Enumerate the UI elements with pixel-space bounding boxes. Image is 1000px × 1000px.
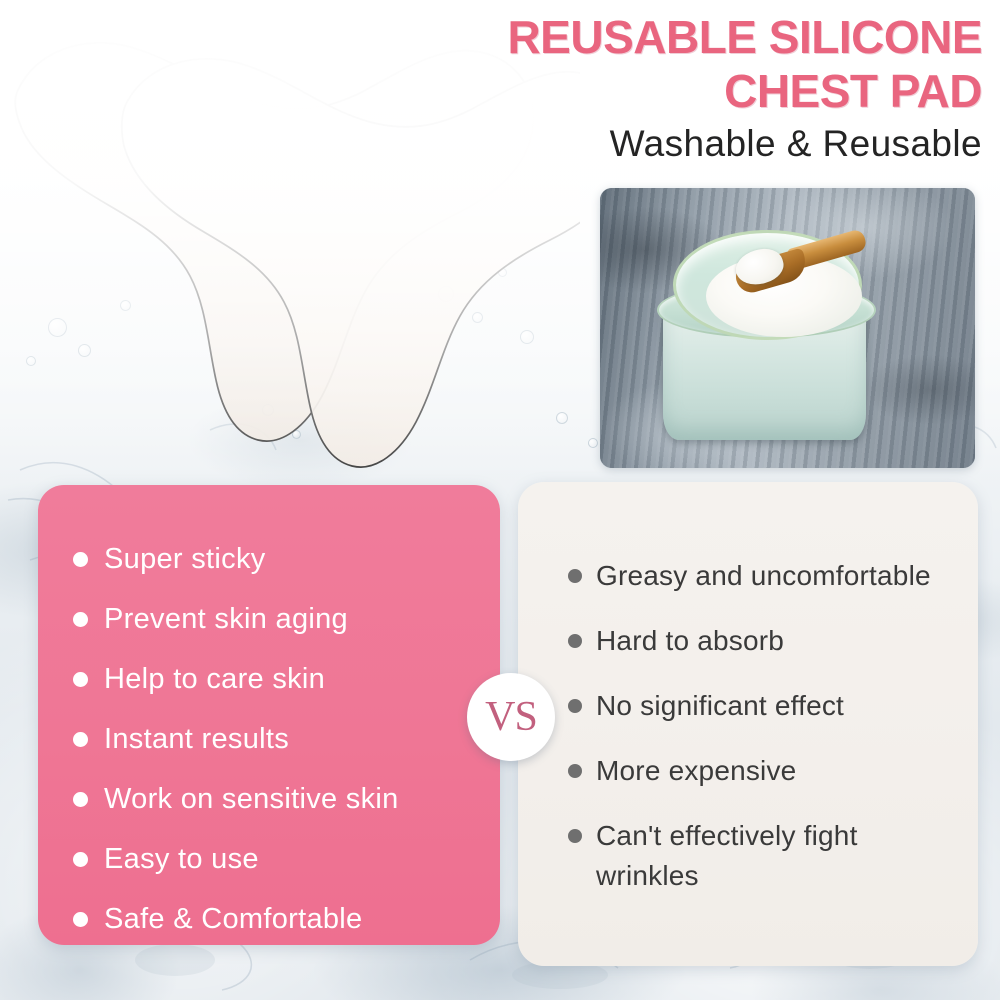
pros-item-label: Super sticky [104, 543, 266, 576]
bullet-icon [568, 764, 582, 778]
bullet-icon [568, 634, 582, 648]
list-item: Safe & Comfortable [73, 889, 535, 949]
cons-panel: Greasy and uncomfortable Hard to absorb … [518, 482, 978, 966]
product-infographic: REUSABLE SILICONE CHEST PAD Washable & R… [0, 0, 1000, 1000]
pros-item-label: Prevent skin aging [104, 603, 348, 636]
headline-line-2: CHEST PAD [442, 64, 982, 118]
list-item: Help to care skin [73, 649, 535, 709]
bullet-icon [73, 552, 88, 567]
cons-list: Greasy and uncomfortable Hard to absorb … [518, 482, 1000, 921]
headline-subtitle: Washable & Reusable [442, 122, 982, 166]
list-item: Can't effectively fight wrinkles [568, 816, 1000, 896]
pros-item-label: Instant results [104, 723, 289, 756]
cons-item-label: No significant effect [596, 686, 844, 726]
list-item: Easy to use [73, 829, 535, 889]
bullet-icon [73, 612, 88, 627]
list-item: Work on sensitive skin [73, 769, 535, 829]
vs-label: VS [485, 693, 537, 741]
bullet-icon [568, 699, 582, 713]
cons-item-label: More expensive [596, 751, 796, 791]
headline-block: REUSABLE SILICONE CHEST PAD Washable & R… [442, 10, 982, 166]
list-item: No significant effect [568, 686, 1000, 726]
cream-jar-photo [600, 188, 975, 468]
glass-jar [657, 222, 872, 440]
bullet-icon [73, 732, 88, 747]
pros-item-label: Easy to use [104, 843, 259, 876]
cons-item-label: Greasy and uncomfortable [596, 556, 931, 596]
list-item: Instant results [73, 709, 535, 769]
bullet-icon [568, 829, 582, 843]
bullet-icon [73, 792, 88, 807]
vs-badge: VS [467, 673, 555, 761]
cons-item-label: Can't effectively fight wrinkles [596, 816, 896, 896]
cons-item-label: Hard to absorb [596, 621, 784, 661]
list-item: More expensive [568, 751, 1000, 791]
pros-panel: Super sticky Prevent skin aging Help to … [38, 485, 500, 945]
list-item: Greasy and uncomfortable [568, 556, 1000, 596]
pros-item-label: Work on sensitive skin [104, 783, 399, 816]
pros-list: Super sticky Prevent skin aging Help to … [38, 485, 535, 949]
bullet-icon [73, 672, 88, 687]
headline-line-1: REUSABLE SILICONE [442, 10, 982, 64]
bullet-icon [73, 912, 88, 927]
bullet-icon [73, 852, 88, 867]
list-item: Super sticky [73, 529, 535, 589]
pros-item-label: Help to care skin [104, 663, 325, 696]
pros-item-label: Safe & Comfortable [104, 903, 362, 936]
list-item: Hard to absorb [568, 621, 1000, 661]
list-item: Prevent skin aging [73, 589, 535, 649]
bullet-icon [568, 569, 582, 583]
